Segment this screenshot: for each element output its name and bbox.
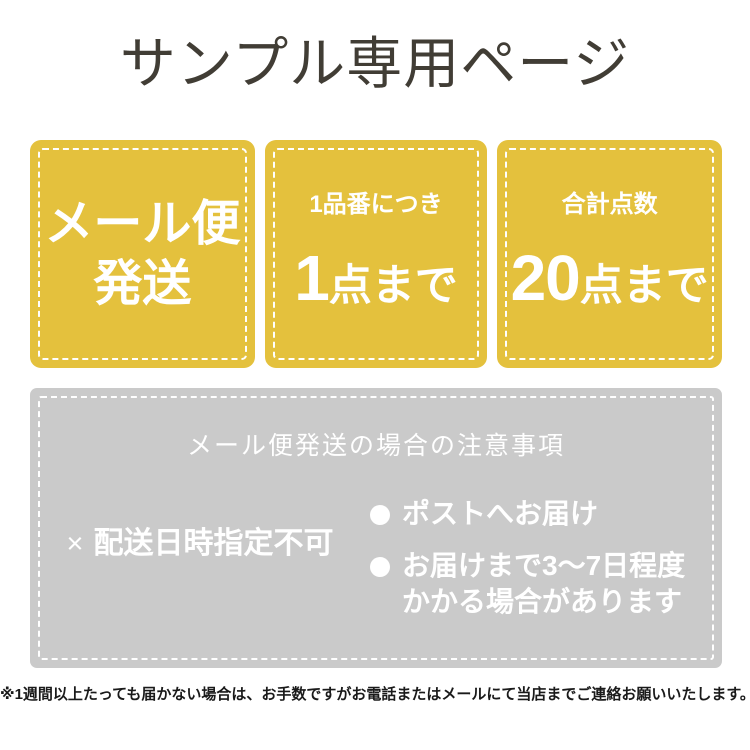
- card-per-item-limit-label: 1品番につき: [265, 190, 488, 220]
- card-mail-delivery-line1: メール便: [30, 194, 255, 254]
- notice-panel: メール便発送の場合の注意事項 ×配送日時指定不可 ポストへお届け お届けまで3〜…: [30, 388, 722, 668]
- notice-restriction-text: 配送日時指定不可: [93, 527, 333, 560]
- card-per-item-limit-number: 1: [294, 242, 329, 314]
- notice-bullet-text: ポストへお届け: [402, 496, 722, 532]
- notice-bullet-line1: ポストへお届け: [402, 498, 598, 529]
- card-per-item-limit-unit: 点まで: [329, 262, 458, 310]
- notice-bullet-line2: かかる場合があります: [402, 584, 722, 620]
- bullet-dot-icon: [370, 505, 390, 525]
- notice-body: ×配送日時指定不可 ポストへお届け お届けまで3〜7日程度 かかる場合があります: [30, 496, 722, 620]
- card-total-limit-value: 20点まで: [497, 246, 722, 318]
- cross-icon: ×: [67, 528, 84, 560]
- notice-bullet-list: ポストへお届け お届けまで3〜7日程度 かかる場合があります: [370, 496, 722, 620]
- card-total-limit-content: 合計点数 20点まで: [497, 190, 722, 318]
- notice-heading: メール便発送の場合の注意事項: [30, 430, 722, 462]
- card-per-item-limit: 1品番につき 1点まで: [265, 140, 488, 368]
- card-total-limit-label: 合計点数: [497, 190, 722, 220]
- notice-bullet-text: お届けまで3〜7日程度 かかる場合があります: [402, 548, 722, 620]
- card-per-item-limit-value: 1点まで: [265, 246, 488, 318]
- card-per-item-limit-content: 1品番につき 1点まで: [265, 190, 488, 318]
- card-total-limit-unit: 点まで: [580, 262, 709, 310]
- footnote-text: ※1週間以上たっても届かない場合は、お手数ですがお電話またはメールにて当店までご…: [0, 684, 750, 706]
- card-mail-delivery-content: メール便 発送: [30, 194, 255, 314]
- sample-page-banner: サンプル専用ページ メール便 発送 1品番につき 1点まで 合計点数: [0, 0, 750, 750]
- card-mail-delivery: メール便 発送: [30, 140, 255, 368]
- card-mail-delivery-line2: 発送: [30, 254, 255, 314]
- card-total-limit: 合計点数 20点まで: [497, 140, 722, 368]
- bullet-dot-icon: [370, 557, 390, 577]
- card-total-limit-number: 20: [511, 242, 580, 314]
- list-item: ポストへお届け: [370, 496, 722, 532]
- notice-bullet-line1: お届けまで3〜7日程度: [402, 550, 685, 581]
- feature-card-group: メール便 発送 1品番につき 1点まで 合計点数 20点まで: [30, 140, 722, 368]
- notice-restriction-item: ×配送日時指定不可: [30, 496, 370, 564]
- list-item: お届けまで3〜7日程度 かかる場合があります: [370, 548, 722, 620]
- page-title: サンプル専用ページ: [0, 28, 750, 100]
